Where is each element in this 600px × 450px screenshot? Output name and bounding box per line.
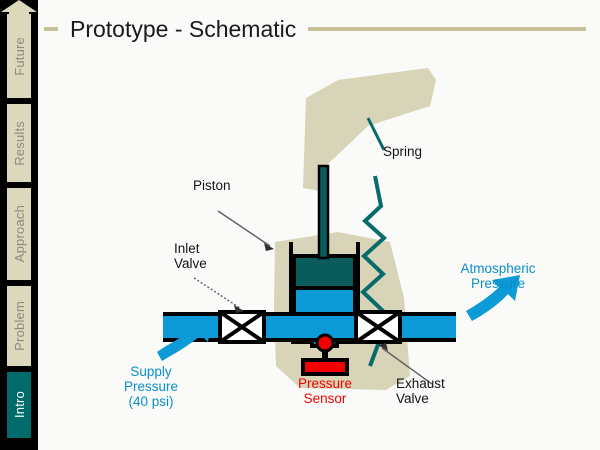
supply-label-line1: Supply bbox=[96, 364, 206, 379]
inlet-valve bbox=[220, 312, 264, 342]
inlet-valve-label: Inlet Valve bbox=[174, 241, 207, 271]
sidebar-item-label: Intro bbox=[12, 391, 27, 418]
title-bar: Prototype - Schematic bbox=[44, 12, 592, 46]
sidebar-item-results[interactable]: Results bbox=[7, 104, 31, 182]
sidebar-nav: Future Results Approach Problem Intro bbox=[0, 0, 38, 450]
exhaust-valve-label-line2: Valve bbox=[396, 391, 445, 406]
title-rule-right bbox=[308, 27, 586, 31]
sidebar-item-label: Results bbox=[12, 121, 27, 166]
atmospheric-pressure-label: Atmospheric Pressure bbox=[438, 261, 558, 291]
piston-head bbox=[294, 256, 355, 288]
schematic-diagram: Spring Piston Inlet Valve Exhaust Valve … bbox=[38, 46, 600, 450]
piston-label: Piston bbox=[193, 178, 231, 193]
exhaust-valve-label: Exhaust Valve bbox=[396, 376, 445, 406]
sidebar-item-label: Approach bbox=[12, 205, 27, 262]
sidebar-item-label: Problem bbox=[12, 301, 27, 351]
pressure-sensor-label: Pressure Sensor bbox=[270, 376, 380, 406]
title-rule-left bbox=[44, 27, 58, 31]
piston-rod bbox=[319, 166, 328, 258]
sidebar-item-future[interactable]: Future bbox=[7, 14, 31, 98]
sidebar-item-intro[interactable]: Intro bbox=[7, 372, 31, 438]
atmospheric-label-line1: Atmospheric bbox=[438, 261, 558, 276]
exhaust-valve-label-line1: Exhaust bbox=[396, 376, 445, 391]
inlet-valve-label-line1: Inlet bbox=[174, 241, 207, 256]
exhaust-valve bbox=[356, 312, 400, 342]
piston-leader-line bbox=[218, 211, 274, 251]
sensor-label-line2: Sensor bbox=[270, 391, 380, 406]
atmospheric-label-line2: Pressure bbox=[438, 276, 558, 291]
sidebar-item-problem[interactable]: Problem bbox=[7, 286, 31, 366]
supply-pressure-label: Supply Pressure (40 psi) bbox=[96, 364, 206, 409]
sidebar-item-approach[interactable]: Approach bbox=[7, 188, 31, 280]
supply-label-line3: (40 psi) bbox=[96, 394, 206, 409]
page-title: Prototype - Schematic bbox=[66, 16, 300, 43]
inlet-valve-label-line2: Valve bbox=[174, 256, 207, 271]
sidebar-item-label: Future bbox=[12, 37, 27, 76]
sensor-label-line1: Pressure bbox=[270, 376, 380, 391]
spring-label: Spring bbox=[383, 144, 422, 159]
inlet-valve-leader-line bbox=[194, 278, 244, 313]
supply-label-line2: Pressure bbox=[96, 379, 206, 394]
